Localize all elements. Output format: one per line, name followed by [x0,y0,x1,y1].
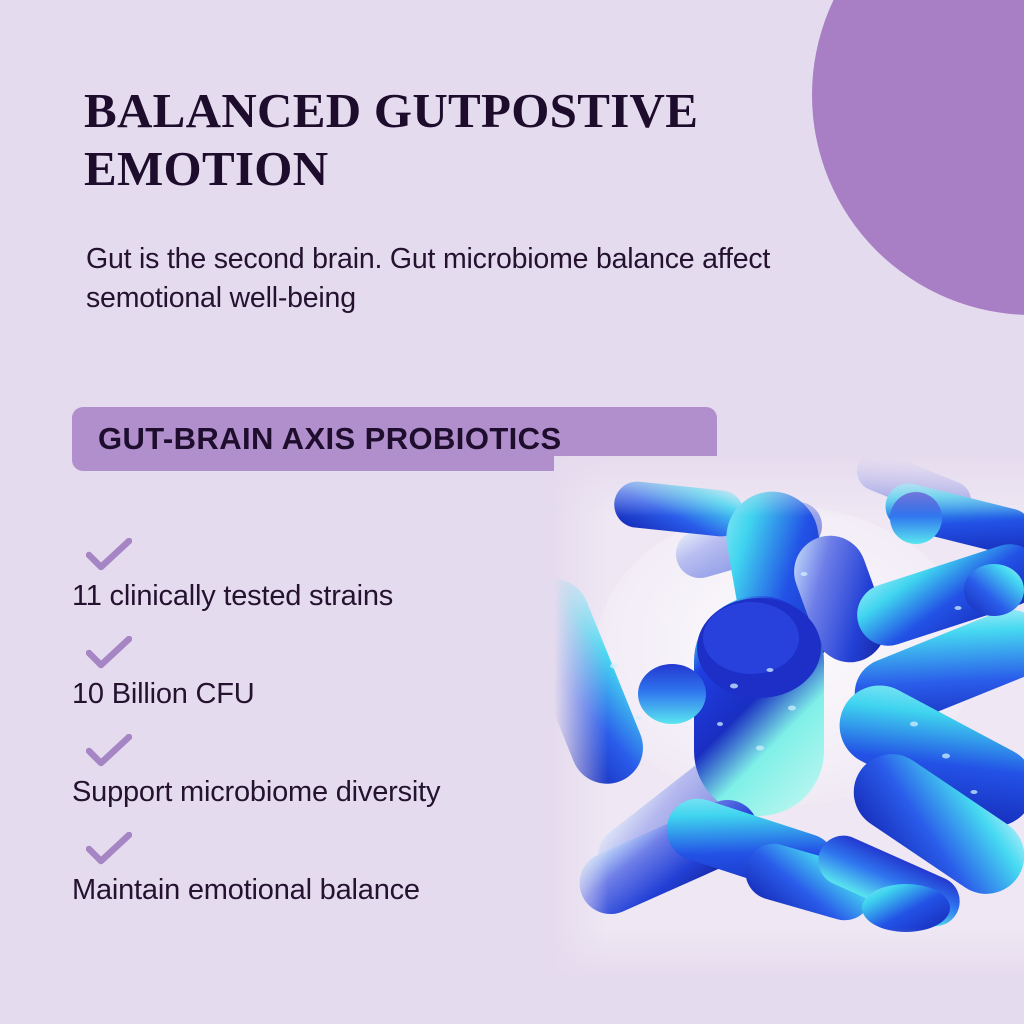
check-icon [86,734,132,768]
list-item: 10 Billion CFU [72,636,612,734]
check-icon [86,832,132,866]
benefits-list: 11 clinically tested strains 10 Billion … [72,538,612,930]
page-title: BALANCED GUTPOSTIVE EMOTION [84,82,784,198]
subtitle-text: Gut is the second brain. Gut microbiome … [86,240,776,319]
list-item: 11 clinically tested strains [72,538,612,636]
probiotics-poster: BALANCED GUTPOSTIVE EMOTION Gut is the s… [0,0,1024,1024]
list-item-label: Maintain emotional balance [72,874,420,907]
product-banner-label: GUT-BRAIN AXIS PROBIOTICS [72,421,562,457]
bacteria-rods-illustration [554,456,1024,976]
list-item-label: Support microbiome diversity [72,776,440,809]
list-item: Support microbiome diversity [72,734,612,832]
check-icon [86,538,132,572]
list-item-label: 10 Billion CFU [72,678,255,711]
check-icon [86,636,132,670]
purple-circle-decoration [812,0,1024,315]
product-banner: GUT-BRAIN AXIS PROBIOTICS [72,407,717,471]
list-item: Maintain emotional balance [72,832,612,930]
list-item-label: 11 clinically tested strains [72,580,393,613]
